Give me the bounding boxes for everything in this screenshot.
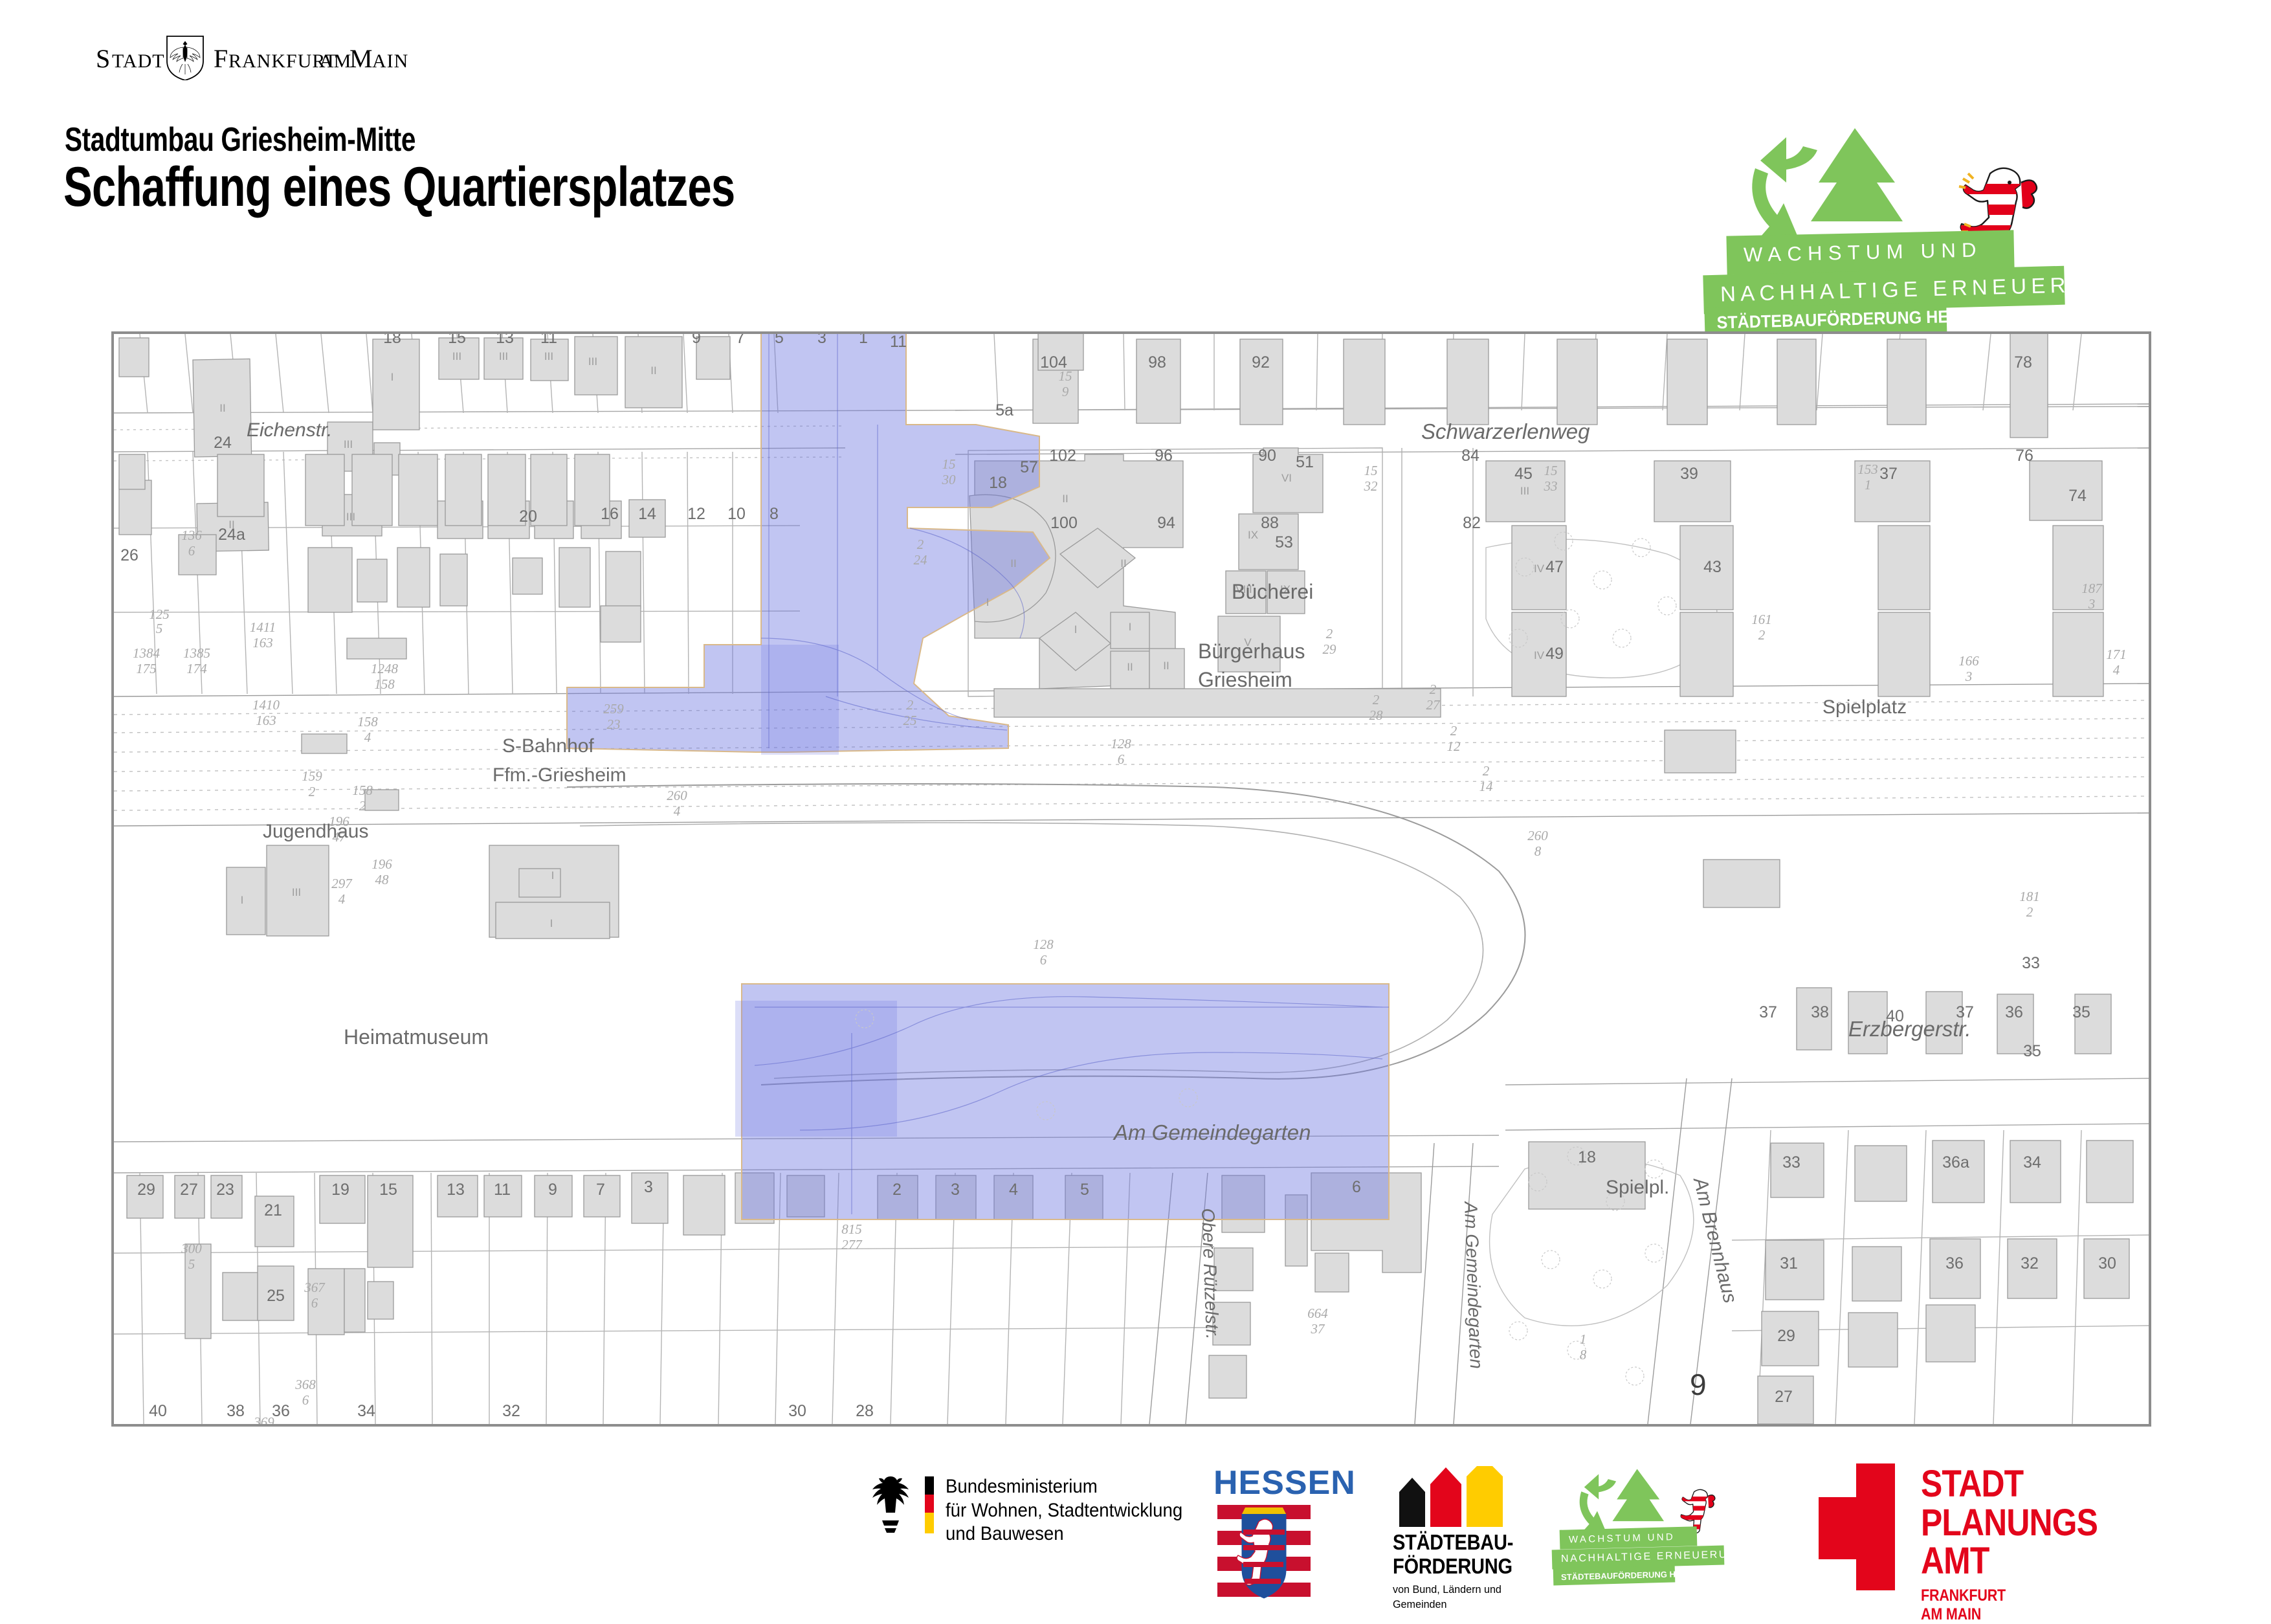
svg-text:9: 9 [692, 334, 701, 347]
svg-text:153: 153 [1857, 462, 1878, 477]
svg-text:IX: IX [1248, 529, 1258, 541]
svg-text:4: 4 [674, 803, 681, 819]
spa-sub: FRANKFURT AM MAIN [1921, 1586, 2006, 1624]
svg-text:33: 33 [2022, 954, 2040, 972]
svg-text:158: 158 [352, 783, 373, 798]
svg-text:102: 102 [1049, 447, 1076, 465]
svg-text:5a: 5a [995, 401, 1014, 419]
svg-text:3: 3 [1965, 669, 1973, 684]
svg-text:47: 47 [1545, 558, 1564, 576]
svg-text:4: 4 [1009, 1181, 1018, 1199]
stb-line-1: STÄDTEBAU- [1393, 1531, 1513, 1555]
svg-text:III: III [499, 350, 508, 362]
svg-text:I: I [986, 596, 990, 608]
svg-text:39: 39 [1680, 465, 1698, 483]
svg-text:24a: 24a [218, 526, 245, 544]
svg-text:15: 15 [1364, 463, 1378, 478]
svg-text:161: 161 [1751, 612, 1772, 627]
svg-text:6: 6 [311, 1295, 318, 1311]
svg-text:13: 13 [447, 1181, 465, 1199]
svg-text:IV: IV [1534, 562, 1545, 575]
svg-text:2: 2 [907, 697, 914, 713]
svg-text:2: 2 [2026, 904, 2033, 920]
svg-text:36: 36 [2005, 1003, 2023, 1021]
svg-text:174: 174 [186, 661, 207, 676]
whe-small-line-2: NACHHALTIGE ERNEUERUNG [1552, 1546, 1725, 1570]
bundesadler-icon [863, 1473, 918, 1535]
svg-text:27: 27 [1426, 697, 1441, 713]
svg-text:6: 6 [1352, 1178, 1361, 1196]
svg-text:14: 14 [638, 505, 656, 523]
place-label-s-bahnhof: S-Bahnhof [502, 735, 594, 757]
svg-text:32: 32 [502, 1402, 520, 1420]
svg-text:2: 2 [309, 784, 316, 799]
svg-text:3: 3 [951, 1181, 960, 1199]
svg-text:16: 16 [601, 505, 619, 523]
svg-text:37: 37 [1311, 1321, 1326, 1337]
svg-text:84: 84 [1461, 447, 1479, 465]
bmw-line-3: und Bauwesen [946, 1522, 1182, 1546]
svg-text:4: 4 [338, 891, 346, 907]
svg-text:3: 3 [817, 334, 826, 347]
svg-text:166: 166 [1958, 653, 1979, 669]
svg-text:40: 40 [149, 1402, 167, 1420]
svg-text:III: III [452, 350, 461, 362]
svg-text:15: 15 [942, 456, 956, 472]
svg-text:2: 2 [917, 537, 924, 552]
svg-text:23: 23 [216, 1181, 234, 1199]
svg-text:6: 6 [302, 1392, 309, 1408]
svg-text:24: 24 [214, 434, 232, 452]
wachstum-erneuerung-logo-small: WACHSTUM UND NACHHALTIGE ERNEUERUNG STÄD… [1565, 1466, 1753, 1589]
svg-text:367: 367 [304, 1280, 326, 1295]
hessen-logo: HESSEN [1213, 1463, 1314, 1601]
svg-text:82: 82 [1463, 514, 1481, 532]
hessen-coat-of-arms-icon [1213, 1502, 1314, 1601]
svg-text:90: 90 [1258, 447, 1276, 465]
svg-text:19: 19 [331, 1181, 349, 1199]
svg-text:II: II [1062, 493, 1068, 505]
svg-text:43: 43 [1703, 558, 1722, 576]
svg-text:5: 5 [775, 334, 784, 347]
svg-text:8: 8 [1534, 843, 1542, 859]
svg-text:32: 32 [1364, 478, 1379, 494]
svg-text:88: 88 [1261, 514, 1279, 532]
svg-text:815: 815 [841, 1221, 862, 1237]
svg-text:18: 18 [1578, 1148, 1596, 1166]
svg-text:2: 2 [1758, 627, 1766, 643]
svg-text:37: 37 [1759, 1003, 1777, 1021]
stb-sub-1: von Bund, Ländern und [1393, 1583, 1501, 1597]
svg-text:30: 30 [942, 472, 957, 487]
svg-text:6: 6 [188, 543, 195, 559]
svg-text:259: 259 [603, 701, 624, 717]
svg-text:IV: IV [1534, 649, 1545, 662]
svg-text:15: 15 [448, 334, 466, 347]
svg-text:9: 9 [548, 1181, 557, 1199]
stb-sub-2: Gemeinden [1393, 1597, 1501, 1612]
svg-text:34: 34 [357, 1402, 375, 1420]
svg-text:14: 14 [1479, 779, 1494, 794]
svg-text:III: III [1520, 485, 1529, 497]
svg-text:32: 32 [2021, 1254, 2039, 1273]
svg-text:57: 57 [1020, 458, 1038, 476]
svg-text:6: 6 [1040, 952, 1047, 968]
svg-text:11: 11 [494, 1181, 511, 1199]
svg-text:33: 33 [1782, 1153, 1800, 1172]
svg-text:30: 30 [2098, 1254, 2116, 1273]
svg-text:TADT: TADT [112, 50, 165, 72]
svg-text:12: 12 [687, 505, 705, 523]
place-label-heimatmuseum: Heimatmuseum [344, 1025, 489, 1049]
svg-text:171: 171 [2106, 647, 2127, 662]
svg-text:92: 92 [1252, 353, 1270, 372]
svg-text:III: III [544, 350, 553, 362]
svg-text:20: 20 [519, 507, 537, 526]
svg-text:AIN: AIN [372, 50, 408, 72]
svg-text:15: 15 [1544, 463, 1558, 478]
svg-text:4: 4 [2113, 662, 2120, 678]
svg-text:48: 48 [375, 872, 390, 887]
svg-text:35: 35 [2023, 1042, 2041, 1060]
svg-text:M: M [349, 44, 373, 73]
svg-text:III: III [346, 511, 355, 523]
place-label-griesheim: Griesheim [1198, 668, 1292, 692]
svg-text:136: 136 [181, 528, 202, 543]
svg-text:21: 21 [264, 1201, 282, 1219]
svg-text:5: 5 [156, 621, 163, 636]
city-logo: S TADT F RANKFURT AM M AIN [96, 34, 510, 79]
place-label-buergerhaus: Bürgerhaus [1198, 640, 1305, 663]
svg-text:11: 11 [890, 334, 907, 351]
svg-text:23: 23 [607, 717, 621, 732]
svg-text:128: 128 [1111, 736, 1131, 751]
spa-line-2: PLANUNGS [1921, 1504, 2098, 1542]
svg-text:36: 36 [272, 1402, 290, 1420]
svg-text:28: 28 [856, 1402, 874, 1420]
street-label-erzbergerstr: Erzbergerstr. [1848, 1017, 1971, 1041]
svg-text:31: 31 [1780, 1254, 1798, 1273]
svg-text:28: 28 [1369, 707, 1384, 723]
svg-text:45: 45 [1514, 465, 1533, 483]
svg-text:53: 53 [1275, 533, 1293, 551]
svg-text:I: I [1129, 621, 1132, 633]
svg-text:2: 2 [1373, 692, 1380, 707]
place-label-spielpl: Spielpl. [1606, 1177, 1669, 1199]
svg-text:181: 181 [2019, 889, 2040, 904]
svg-text:2: 2 [1450, 723, 1457, 739]
bundesministerium-logo: Bundesministerium für Wohnen, Stadtentwi… [863, 1473, 918, 1538]
svg-text:187: 187 [2081, 581, 2103, 596]
svg-text:27: 27 [1775, 1388, 1793, 1406]
svg-text:4: 4 [364, 729, 371, 745]
svg-text:18: 18 [989, 474, 1007, 492]
svg-text:664: 664 [1307, 1306, 1328, 1321]
bmw-line-2: für Wohnen, Stadtentwicklung [946, 1499, 1182, 1523]
place-label-buecherei: Bücherei [1232, 580, 1313, 604]
svg-text:II: II [219, 402, 225, 414]
map-canvas: 1366 1255 1411163 1410163 1384175 138517… [114, 334, 2149, 1424]
svg-text:9: 9 [1062, 384, 1069, 399]
svg-text:AM: AM [319, 50, 351, 72]
svg-text:78: 78 [2014, 353, 2032, 372]
svg-text:297: 297 [331, 876, 353, 891]
svg-text:300: 300 [181, 1241, 202, 1256]
svg-text:12: 12 [1447, 739, 1461, 754]
svg-text:I: I [550, 917, 553, 929]
spa-line-3: AMT [1921, 1542, 2098, 1581]
svg-text:2: 2 [1430, 682, 1437, 697]
svg-text:34: 34 [2023, 1153, 2041, 1172]
svg-text:277: 277 [841, 1237, 863, 1252]
svg-text:38: 38 [227, 1402, 245, 1420]
svg-text:1: 1 [859, 334, 868, 347]
svg-text:128: 128 [1033, 937, 1054, 952]
svg-text:368: 368 [294, 1377, 316, 1392]
svg-text:33: 33 [1544, 478, 1558, 494]
svg-text:3: 3 [2088, 596, 2096, 612]
svg-text:175: 175 [136, 661, 157, 676]
svg-text:I: I [241, 894, 244, 906]
project-subtitle: Stadtumbau Griesheim-Mitte [65, 120, 415, 159]
svg-text:98: 98 [1148, 353, 1166, 372]
svg-text:27: 27 [180, 1181, 198, 1199]
svg-text:5: 5 [1080, 1181, 1089, 1199]
svg-text:260: 260 [667, 788, 687, 803]
svg-text:35: 35 [2072, 1003, 2090, 1021]
svg-text:III: III [292, 886, 301, 898]
stadtplanungsamt-logo: STADT PLANUNGS AMT FRANKFURT AM MAIN [1819, 1463, 1922, 1594]
svg-text:1: 1 [1580, 1331, 1587, 1347]
svg-text:I: I [1074, 623, 1078, 636]
street-label-eichenstr: Eichenstr. [247, 419, 332, 441]
svg-text:10: 10 [727, 505, 746, 523]
footer-logo-strip: Bundesministerium für Wohnen, Stadtentwi… [0, 1460, 2271, 1605]
svg-text:F: F [214, 44, 228, 73]
hessen-wordmark: HESSEN [1213, 1463, 1314, 1502]
page-title: Schaffung eines Quartiersplatzes [63, 155, 735, 219]
svg-text:1410: 1410 [252, 697, 280, 713]
svg-text:II: II [1163, 660, 1169, 672]
svg-text:25: 25 [267, 1287, 285, 1305]
spa-line-1: STADT [1921, 1465, 2098, 1504]
stb-line-2: FÖRDERUNG [1393, 1555, 1513, 1579]
svg-text:74: 74 [2068, 487, 2087, 505]
svg-text:25: 25 [903, 713, 917, 728]
svg-text:96: 96 [1155, 447, 1173, 465]
street-label-schwarzerlenweg: Schwarzerlenweg [1421, 419, 1590, 444]
svg-text:76: 76 [2015, 447, 2033, 465]
svg-text:15: 15 [379, 1181, 397, 1199]
svg-text:29: 29 [1323, 641, 1337, 657]
svg-text:7: 7 [736, 334, 745, 347]
svg-text:S: S [96, 44, 111, 73]
svg-text:II: II [1010, 557, 1016, 570]
svg-text:VI: VI [1281, 472, 1292, 484]
svg-text:24: 24 [914, 552, 928, 568]
cadastral-map[interactable]: 1366 1255 1411163 1410163 1384175 138517… [111, 331, 2151, 1427]
svg-text:2: 2 [1326, 626, 1333, 641]
svg-text:36: 36 [1945, 1254, 1964, 1273]
svg-text:II: II [1120, 557, 1126, 570]
svg-text:49: 49 [1545, 645, 1564, 663]
svg-text:7: 7 [596, 1181, 605, 1199]
map-vector: 1366 1255 1411163 1410163 1384175 138517… [114, 334, 2149, 1424]
svg-text:94: 94 [1157, 514, 1175, 532]
svg-text:159: 159 [302, 768, 322, 784]
svg-text:100: 100 [1050, 514, 1078, 532]
svg-text:1248: 1248 [371, 661, 399, 676]
svg-text:1384: 1384 [133, 645, 161, 661]
svg-text:36a: 36a [1942, 1153, 1969, 1172]
svg-text:1: 1 [1865, 477, 1872, 493]
three-houses-icon [1390, 1466, 1520, 1527]
svg-text:2: 2 [1483, 763, 1490, 779]
map-marker-9: 9 [1690, 1367, 1707, 1402]
svg-text:2: 2 [359, 798, 366, 814]
svg-text:104: 104 [1040, 353, 1067, 372]
svg-text:158: 158 [374, 676, 395, 692]
street-label-am-gemeindegarten: Am Gemeindegarten [1114, 1120, 1311, 1145]
svg-text:163: 163 [256, 713, 276, 728]
svg-text:2: 2 [892, 1181, 902, 1199]
svg-text:30: 30 [788, 1402, 806, 1420]
svg-text:37: 37 [1879, 465, 1898, 483]
svg-text:26: 26 [120, 546, 138, 564]
svg-text:I: I [551, 869, 555, 882]
svg-text:13: 13 [496, 334, 514, 347]
svg-text:29: 29 [137, 1181, 155, 1199]
svg-text:38: 38 [1811, 1003, 1829, 1021]
place-label-jugendhaus: Jugendhaus [263, 821, 368, 843]
stadt-frankfurt-wordmark-svg: S TADT F RANKFURT AM M AIN [96, 34, 510, 80]
svg-text:8: 8 [770, 505, 779, 523]
svg-text:5: 5 [188, 1256, 195, 1272]
stadtplanungsamt-mark-icon [1819, 1463, 1922, 1590]
svg-text:3: 3 [644, 1178, 653, 1196]
svg-text:158: 158 [357, 714, 378, 729]
svg-text:29: 29 [1777, 1327, 1795, 1345]
place-label-ffm-griesheim: Ffm.-Griesheim [493, 764, 626, 786]
svg-text:196: 196 [371, 856, 392, 872]
svg-text:125: 125 [149, 606, 170, 622]
bmw-line-1: Bundesministerium [946, 1475, 1182, 1499]
svg-text:260: 260 [1527, 828, 1548, 843]
svg-text:6: 6 [1118, 751, 1125, 767]
svg-text:II: II [1127, 661, 1133, 673]
svg-text:51: 51 [1296, 453, 1314, 471]
svg-text:163: 163 [252, 635, 273, 651]
svg-text:I: I [391, 371, 394, 383]
whe-small-line-3: STÄDTEBAUFÖRDERUNG HESSEN [1553, 1566, 1676, 1586]
svg-text:11: 11 [540, 334, 557, 347]
svg-text:II: II [650, 364, 656, 377]
svg-text:18: 18 [383, 334, 401, 347]
svg-text:8: 8 [1580, 1347, 1587, 1363]
svg-text:1411: 1411 [250, 619, 276, 635]
staedtebaufoerderung-logo: STÄDTEBAU- FÖRDERUNG von Bund, Ländern u… [1390, 1466, 1520, 1530]
svg-text:1385: 1385 [183, 645, 210, 661]
svg-text:III: III [588, 355, 597, 368]
svg-text:III: III [344, 438, 353, 450]
place-label-spielplatz: Spielplatz [1822, 696, 1907, 718]
